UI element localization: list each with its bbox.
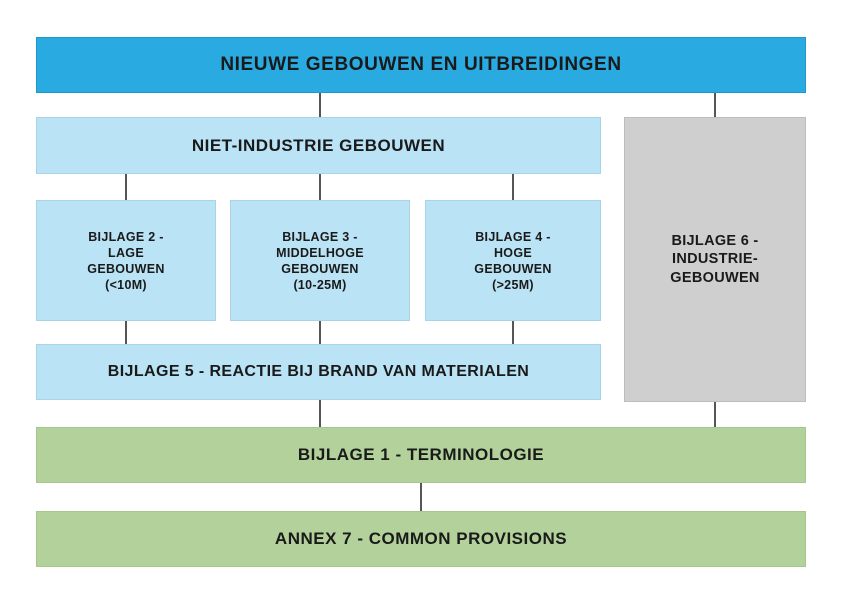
node-bijlage-6-industriegebouwen[interactable]: BIJLAGE 6 - INDUSTRIE- GEBOUWEN: [624, 117, 806, 402]
node-label: NIET-INDUSTRIE GEBOUWEN: [182, 135, 455, 157]
connector-non-industry-to-annex3: [319, 174, 321, 201]
node-label: BIJLAGE 3 - MIDDELHOGE GEBOUWEN (10-25M): [266, 229, 374, 293]
connector-non-industry-to-annex2: [125, 174, 127, 201]
node-label: BIJLAGE 2 - LAGE GEBOUWEN (<10M): [77, 229, 174, 293]
node-annex-7-common-provisions[interactable]: ANNEX 7 - COMMON PROVISIONS: [36, 511, 806, 567]
connector-root-to-annex6: [714, 93, 716, 118]
node-nieuwe-gebouwen-en-uitbreidingen[interactable]: NIEUWE GEBOUWEN EN UITBREIDINGEN: [36, 37, 806, 93]
node-bijlage-2-lage-gebouwen[interactable]: BIJLAGE 2 - LAGE GEBOUWEN (<10M): [36, 200, 216, 321]
node-niet-industrie-gebouwen[interactable]: NIET-INDUSTRIE GEBOUWEN: [36, 117, 601, 174]
node-bijlage-4-hoge-gebouwen[interactable]: BIJLAGE 4 - HOGE GEBOUWEN (>25M): [425, 200, 601, 321]
connector-annex4-to-annex5: [512, 321, 514, 345]
connector-annex1-to-annex7: [420, 483, 422, 511]
node-label: BIJLAGE 1 - TERMINOLOGIE: [288, 444, 554, 466]
connector-root-to-non-industry: [319, 93, 321, 118]
connector-annex5-to-annex1: [319, 400, 321, 428]
diagram-canvas: NIEUWE GEBOUWEN EN UITBREIDINGEN NIET-IN…: [0, 0, 842, 604]
node-bijlage-5-reactie-bij-brand-van-materialen[interactable]: BIJLAGE 5 - REACTIE BIJ BRAND VAN MATERI…: [36, 344, 601, 400]
connector-annex2-to-annex5: [125, 321, 127, 345]
node-bijlage-3-middelhoge-gebouwen[interactable]: BIJLAGE 3 - MIDDELHOGE GEBOUWEN (10-25M): [230, 200, 410, 321]
connector-non-industry-to-annex4: [512, 174, 514, 201]
connector-annex6-to-annex1: [714, 402, 716, 428]
node-label: ANNEX 7 - COMMON PROVISIONS: [265, 528, 577, 550]
connector-annex3-to-annex5: [319, 321, 321, 345]
node-label: BIJLAGE 6 - INDUSTRIE- GEBOUWEN: [660, 232, 769, 288]
node-label: BIJLAGE 5 - REACTIE BIJ BRAND VAN MATERI…: [98, 362, 539, 382]
node-label: BIJLAGE 4 - HOGE GEBOUWEN (>25M): [464, 229, 561, 293]
node-label: NIEUWE GEBOUWEN EN UITBREIDINGEN: [210, 53, 631, 77]
node-bijlage-1-terminologie[interactable]: BIJLAGE 1 - TERMINOLOGIE: [36, 427, 806, 483]
